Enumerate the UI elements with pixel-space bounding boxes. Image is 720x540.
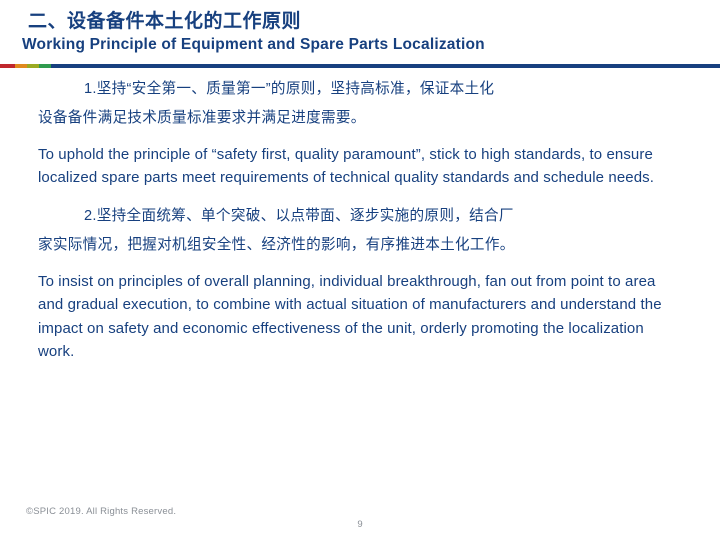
slide-title-english: Working Principle of Equipment and Spare… <box>22 36 485 54</box>
copyright-notice: ©SPIC 2019. All Rights Reserved. <box>26 506 176 517</box>
principle-1-chinese-line-2: 设备备件满足技术质量标准要求并满足进度需要。 <box>0 107 720 130</box>
rule-segment-orange <box>15 64 27 68</box>
principle-2-english: To insist on principles of overall plann… <box>0 270 720 364</box>
principle-2-chinese-line-1: 2.坚持全面统筹、单个突破、以点带面、逐步实施的原则，结合厂 <box>0 205 720 228</box>
principle-1-chinese-line-1-text: 1.坚持“安全第一、质量第一”的原则，坚持高标准，保证本土化 <box>84 81 494 97</box>
principle-2-chinese-line-2: 家实际情况，把握对机组安全性、经济性的影响，有序推进本土化工作。 <box>0 234 720 257</box>
rule-segment-blue <box>51 64 720 68</box>
title-divider-rule <box>0 64 720 68</box>
page-number: 9 <box>0 519 720 530</box>
spacer <box>0 130 720 143</box>
rule-segment-green <box>39 64 51 68</box>
principle-1-english: To uphold the principle of “safety first… <box>0 143 720 190</box>
spacer <box>0 257 720 270</box>
slide-title-chinese: 二、设备备件本土化的工作原则 <box>28 6 301 33</box>
principle-2-chinese-line-1-text: 2.坚持全面统筹、单个突破、以点带面、逐步实施的原则，结合厂 <box>84 208 514 224</box>
slide-body: 1.坚持“安全第一、质量第一”的原则，坚持高标准，保证本土化 设备备件满足技术质… <box>0 78 720 363</box>
principle-1-chinese-line-1: 1.坚持“安全第一、质量第一”的原则，坚持高标准，保证本土化 <box>0 78 720 101</box>
slide: 二、设备备件本土化的工作原则 Working Principle of Equi… <box>0 0 720 540</box>
rule-segment-red <box>0 64 15 68</box>
rule-segment-olive <box>27 64 39 68</box>
spacer <box>0 189 720 205</box>
